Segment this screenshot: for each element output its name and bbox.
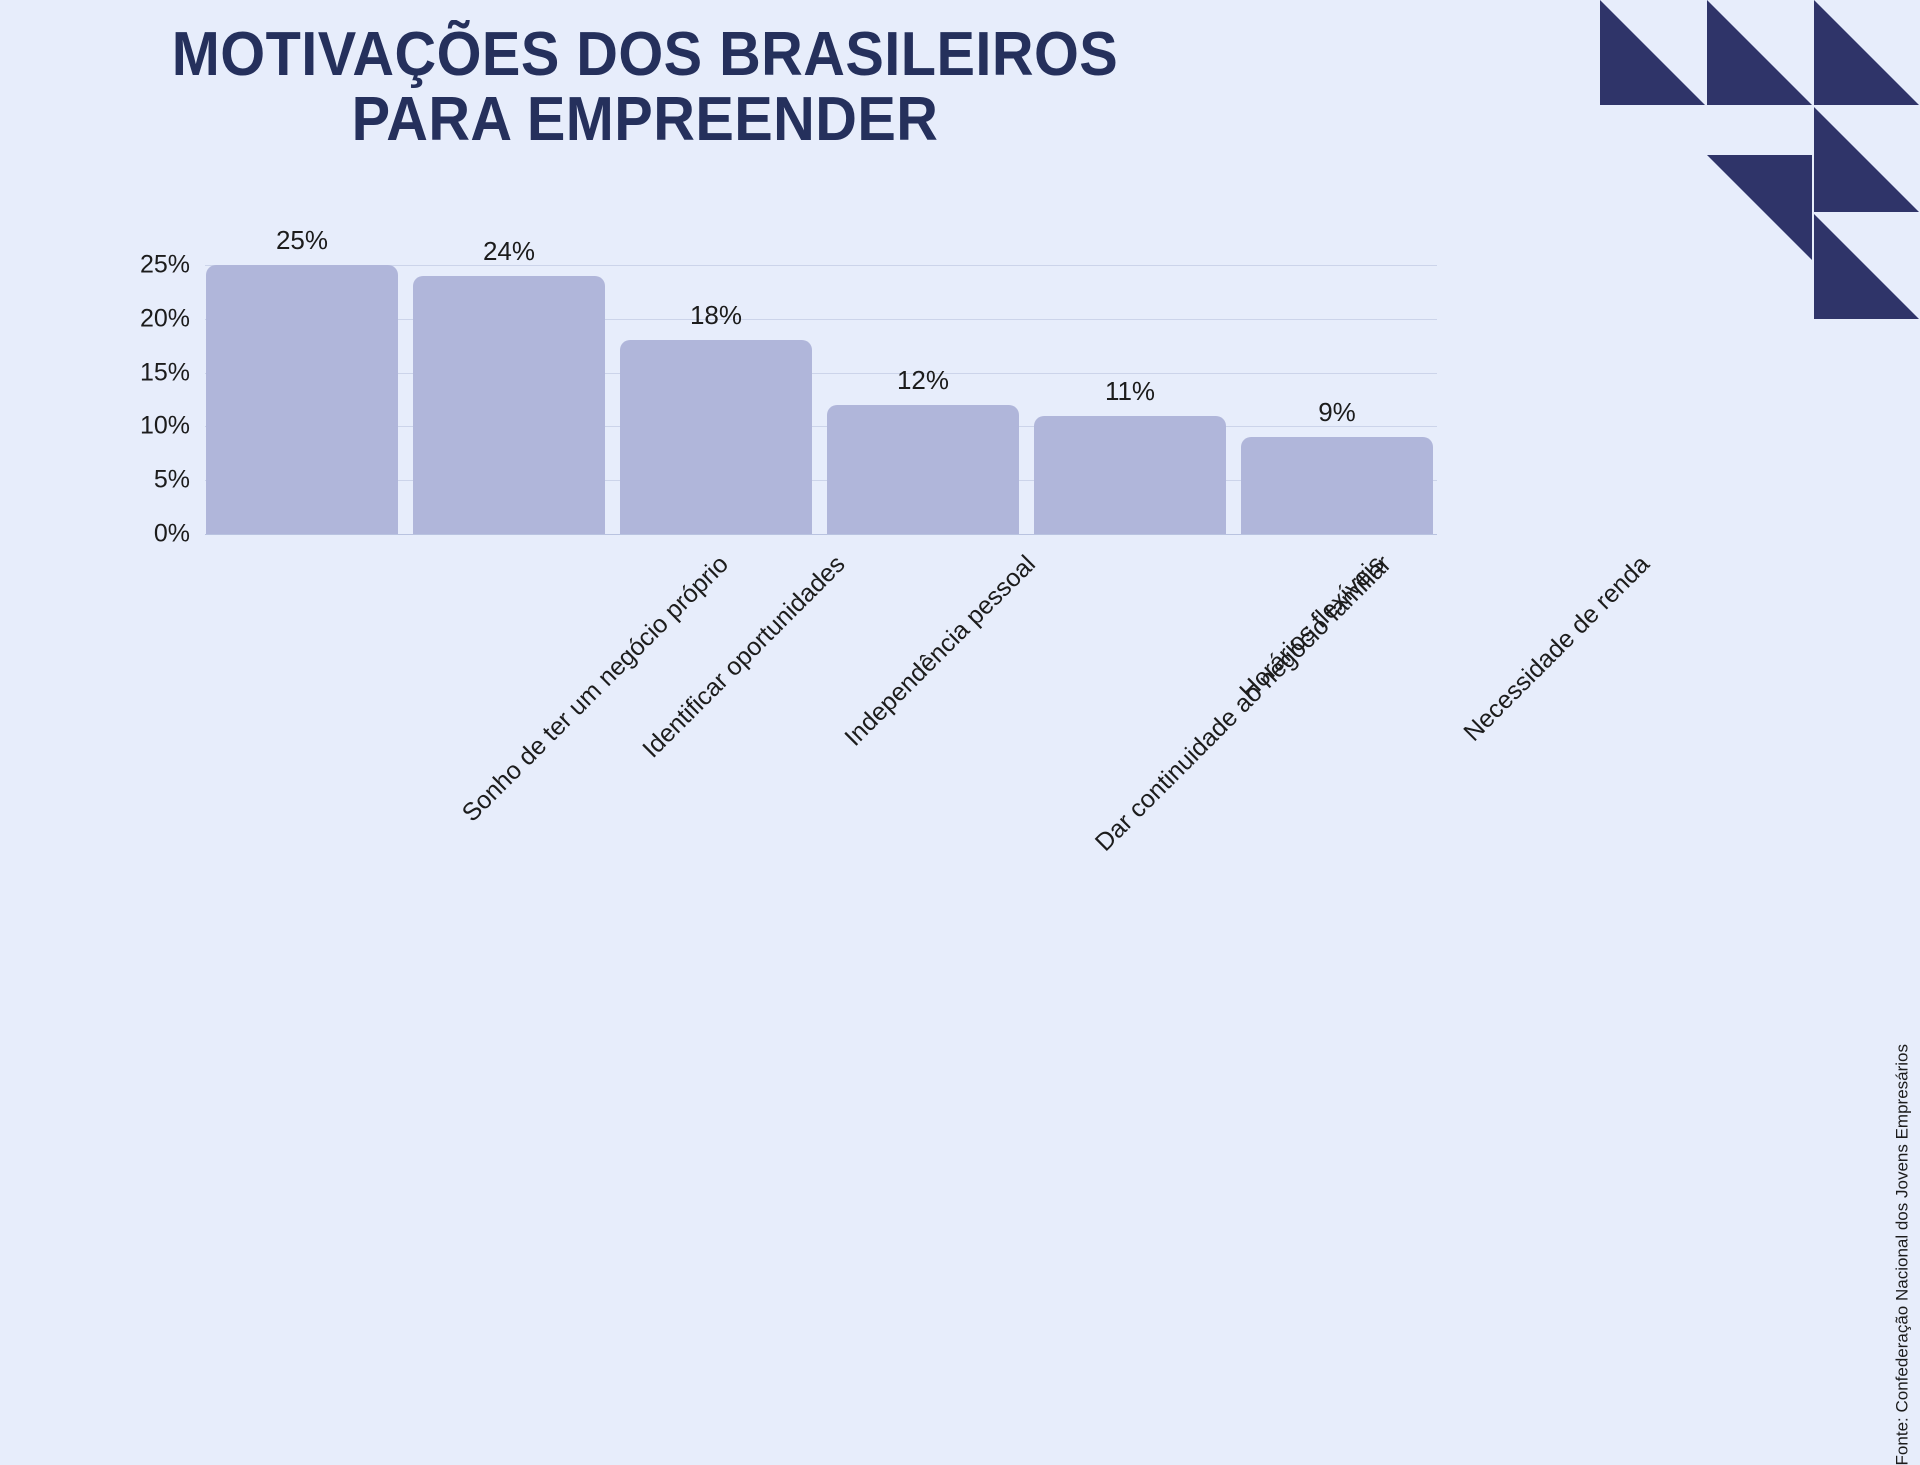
y-axis-tick-label: 15%: [110, 358, 190, 387]
x-axis-category-label: Independência pessoal: [839, 550, 1041, 752]
y-axis-tick-label: 25%: [110, 251, 190, 280]
x-axis-category-label: Horários flexíveis: [1234, 550, 1390, 706]
bar[interactable]: [413, 276, 605, 534]
bar[interactable]: [1241, 437, 1433, 534]
source-credit: Fonte: Confederação Nacional dos Jovens …: [1892, 1044, 1912, 1465]
y-axis-tick-label: 10%: [110, 412, 190, 441]
y-axis-tick-label: 0%: [110, 520, 190, 549]
bar[interactable]: [1034, 416, 1226, 534]
bar-chart: 0%5%10%15%20%25% 25%24%18%12%11%9% Sonho…: [0, 0, 1920, 1080]
bar-value-label: 11%: [1105, 376, 1155, 407]
y-axis-tick-label: 5%: [110, 466, 190, 495]
bar-value-label: 25%: [276, 225, 328, 256]
axis-baseline: [205, 534, 1437, 535]
x-axis-category-label: Identificar oportunidades: [637, 550, 851, 764]
bar[interactable]: [620, 340, 812, 534]
bar[interactable]: [827, 405, 1019, 534]
bar-value-label: 9%: [1318, 397, 1356, 428]
bar[interactable]: [206, 265, 398, 534]
bar-value-label: 18%: [690, 300, 742, 331]
bar-value-label: 24%: [483, 236, 535, 267]
y-axis-tick-label: 20%: [110, 304, 190, 333]
bar-value-label: 12%: [897, 365, 949, 396]
x-axis-category-label: Necessidade de renda: [1458, 550, 1655, 747]
